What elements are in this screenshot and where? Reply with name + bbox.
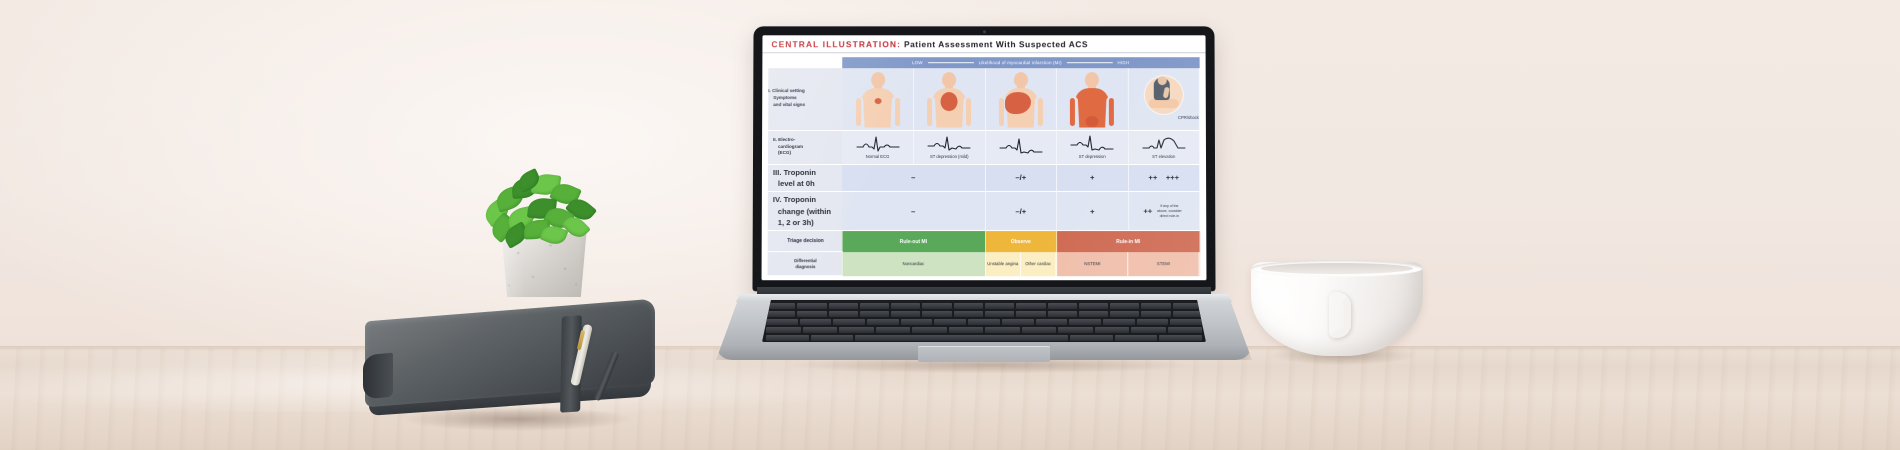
troponin-change-note: If any of the above, consider direct rul… [1154,203,1184,220]
likelihood-center-label: Likelihood of myocardial infarction (MI) [979,60,1062,65]
troponin-level-cell-45: ++ +++ [1128,164,1200,192]
torso-figure-icon [1000,72,1042,128]
diff-noncardiac: Noncardiac [842,252,985,276]
row-main-3: Troponin [784,167,817,176]
row-troponin-level: III. Troponin level at 0h – –/+ + ++ [768,164,1200,192]
cpr-icon [1145,76,1183,114]
row-label-ecg: II. Electro- cardiogram (ECG) [768,130,842,164]
row-num-4: IV. [773,195,782,204]
slide-content: CENTRAL ILLUSTRATION: Patient Assessment… [762,35,1207,280]
row-label-triage: Triage decision [768,231,842,252]
laptop-screen[interactable]: CENTRAL ILLUSTRATION: Patient Assessment… [762,35,1207,280]
figure-cell-4 [1056,68,1128,130]
row-sub1-4: change (within [773,206,839,217]
row-num-3: III. [773,167,781,176]
notebook-spine [363,353,393,400]
row-sub2-2: (ECG) [773,150,839,157]
triage-rule-out: Rule-out MI [842,231,985,252]
matrix-wrapper: LOW Likelihood of myocardial infarction … [762,53,1207,280]
ecg-normal-icon [856,135,900,153]
likelihood-low-label: LOW [912,60,923,65]
row-troponin-change: IV. Troponin change (within 1, 2 or 3h) … [768,192,1200,231]
triage-rule-in: Rule-in MI [1057,231,1200,252]
row-sub1-3: level at 0h [773,178,839,189]
ecg-st-elevation-icon [1142,135,1186,153]
troponin-level-cell-3: + [1057,164,1129,192]
row-num-2: II. [773,137,777,142]
row-label-troponin-level: III. Troponin level at 0h [768,164,842,192]
diff-nstemi: NSTEMI [1057,252,1128,276]
potted-plant [480,172,610,297]
triage-observe: Observe [985,231,1057,252]
row-sub1-2: cardiogram [773,144,839,151]
row-main-4: Troponin [784,195,817,204]
ecg-caption-4: ST depression [1079,154,1106,159]
row-ecg: II. Electro- cardiogram (ECG) [768,130,1200,164]
row-label-clinical-setting: I. Clinical setting Symptoms and vital s… [768,68,842,130]
row-triage-decision: Triage decision Rule-out MI Observe Rule… [768,231,1200,252]
ecg-st-depression-icon [999,138,1043,156]
diff-stemi: STEMI [1128,252,1199,276]
ecg-cell-2: ST depression (mild) [913,130,985,164]
laptop-lid: CENTRAL ILLUSTRATION: Patient Assessment… [752,26,1215,291]
diff-other-cardiac: Other cardiac [1021,252,1056,276]
figure-cell-3 [985,68,1056,130]
page-title: CENTRAL ILLUSTRATION: Patient Assessment… [762,35,1205,53]
gradient-line-left [928,62,974,63]
row-main-1: Clinical setting [772,88,805,93]
troponin-change-cell-4: ++ [1143,206,1152,215]
troponin-change-cell-1: – [842,192,985,231]
row-num-1: I. [768,88,771,93]
row-sub2-1: and vital signs [768,102,842,109]
troponin-level-cell-1: – [842,164,985,192]
row-clinical-setting: I. Clinical setting Symptoms and vital s… [768,68,1199,130]
figure-cell-1 [842,68,914,130]
diff-rulein-group: NSTEMI STEMI [1057,252,1200,276]
cup-interior [1261,263,1413,274]
row-differential-diagnosis: Differential diagnosis Noncardiac Unstab… [768,252,1200,276]
diff-observe-group: Unstable angina Other cardiac [985,252,1057,276]
coffee-cup [1243,258,1443,376]
gradient-line-right [1067,62,1113,63]
troponin-change-cell-45: ++ If any of the above, consider direct … [1128,192,1200,231]
figure-cell-2 [914,68,985,130]
row-sub2-4: 1, 2 or 3h) [773,217,839,228]
notebook [365,310,665,440]
likelihood-high-label: HIGH [1118,60,1130,65]
cpr-caption: CPR/shock [1178,115,1199,120]
ecg-cell-3 [985,130,1057,164]
desk-scene: CENTRAL ILLUSTRATION: Patient Assessment… [0,0,1900,450]
torso-figure-icon [928,72,970,128]
ecg-st-depression-icon [1070,135,1114,153]
row-main-2: Electro- [778,137,795,142]
header-spacer [768,57,842,68]
row-sub1-1: Symptoms [768,95,842,102]
title-text: Patient Assessment With Suspected ACS [904,39,1088,49]
laptop: CENTRAL ILLUSTRATION: Patient Assessment… [700,26,1280,371]
cup-highlight [1265,280,1305,332]
diff-unstable-angina: Unstable angina [986,252,1021,276]
ecg-caption-2: ST depression (mild) [930,154,969,159]
torso-figure-icon [1071,72,1113,128]
troponin-level-cell-4: ++ [1148,173,1157,182]
ecg-caption-1: Normal ECG [866,154,890,159]
troponin-change-cell-2: –/+ [985,192,1057,231]
troponin-level-cell-5: +++ [1166,173,1179,182]
ecg-caption-5: ST elevation [1152,154,1175,159]
ecg-st-depression-mild-icon [927,135,971,153]
figure-cell-5-cpr: CPR/shock [1128,68,1200,130]
keyboard[interactable] [762,300,1206,342]
assessment-matrix: LOW Likelihood of myocardial infarction … [768,57,1201,276]
ecg-cell-5: ST elevation [1128,130,1200,164]
trackpad[interactable] [918,346,1050,362]
torso-figure-icon [857,72,899,128]
ecg-cell-1: Normal ECG [842,130,914,164]
matrix-header-row: LOW Likelihood of myocardial infarction … [768,57,1199,68]
likelihood-gradient-header: LOW Likelihood of myocardial infarction … [842,57,1199,68]
row-label-differential: Differential diagnosis [768,252,842,276]
webcam-icon [983,30,986,33]
cup-handle [1329,292,1351,338]
ecg-cell-4: ST depression [1056,130,1128,164]
troponin-change-cell-3: + [1057,192,1129,231]
diff-main: Differential [794,259,817,264]
row-label-troponin-change: IV. Troponin change (within 1, 2 or 3h) [768,192,842,231]
title-prefix: CENTRAL ILLUSTRATION: [771,39,901,49]
troponin-level-cell-2: –/+ [985,164,1057,192]
diff-sub: diagnosis [795,264,815,269]
